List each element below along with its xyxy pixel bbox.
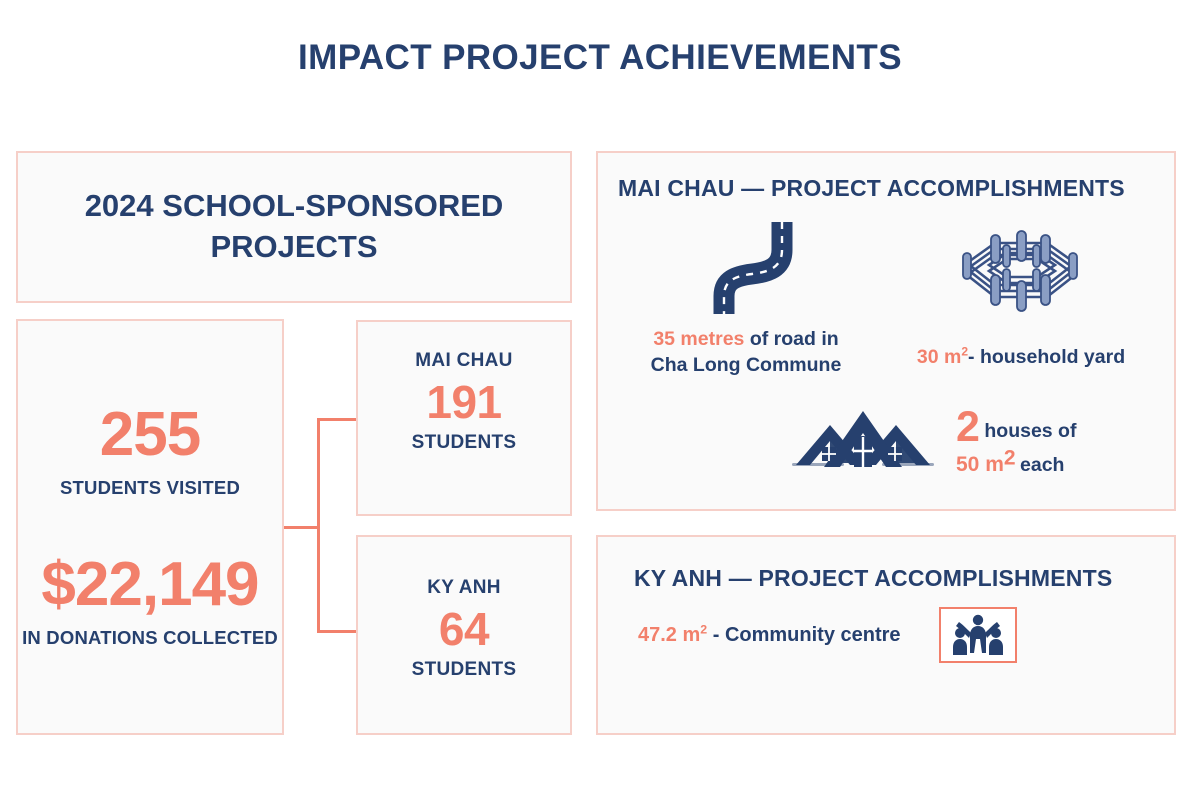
- achievement-houses-caption: 2 houses of 50 m2 each: [956, 406, 1076, 477]
- site-card-mai-chau-count: 191: [426, 378, 501, 428]
- achievement-community-exponent: 2: [700, 622, 707, 636]
- achievement-community-rest: - Community centre: [713, 624, 901, 646]
- site-card-mai-chau: MAI CHAU 191 STUDENTS: [356, 320, 572, 516]
- houses-roofline-icon: [788, 403, 938, 480]
- ky-anh-panel-title: KY ANH — PROJECT ACCOMPLISHMENTS: [634, 565, 1112, 592]
- achievement-houses-line-2: 50 m2 each: [956, 453, 1076, 477]
- totals-stats-card: 255 STUDENTS VISITED $22,149 IN DONATION…: [16, 319, 284, 735]
- achievement-household-yard: 30 m2- household yard: [876, 213, 1166, 371]
- achievement-community-caption: 47.2 m2 - Community centre: [638, 622, 901, 648]
- stat-students-visited-label: STUDENTS VISITED: [60, 476, 240, 500]
- mai-chau-panel-title: MAI CHAU — PROJECT ACCOMPLISHMENTS: [618, 175, 1125, 202]
- site-card-ky-anh: KY ANH 64 STUDENTS: [356, 535, 572, 735]
- stat-donations: $22,149 IN DONATIONS COLLECTED: [22, 554, 278, 650]
- achievement-community-amount: 47.2 m: [638, 624, 700, 646]
- site-card-ky-anh-unit: STUDENTS: [412, 659, 517, 681]
- page-title: IMPACT PROJECT ACHIEVEMENTS: [0, 38, 1200, 78]
- projects-header-text: 2024 SCHOOL-SPONSORED PROJECTS: [18, 186, 570, 268]
- connector-arm-maichau: [317, 418, 358, 421]
- community-people-icon: [947, 613, 1009, 657]
- site-card-mai-chau-name: MAI CHAU: [415, 350, 512, 372]
- achievement-road: 35 metres of road in Cha Long Commune: [616, 213, 876, 378]
- community-icon-frame: [939, 607, 1017, 663]
- stat-students-visited-value: 255: [60, 404, 240, 466]
- fenced-yard-icon: [876, 213, 1166, 323]
- connector-arm-kyanh: [317, 630, 358, 633]
- winding-road-icon: [616, 213, 876, 323]
- achievement-yard-caption: 30 m2- household yard: [876, 345, 1166, 371]
- achievement-houses: 2 houses of 50 m2 each: [788, 403, 1168, 480]
- achievement-houses-count: 2: [956, 403, 980, 451]
- achievement-yard-amount: 30 m: [917, 346, 961, 368]
- site-card-mai-chau-unit: STUDENTS: [412, 432, 517, 454]
- site-card-ky-anh-count: 64: [439, 605, 489, 655]
- mai-chau-accomplishments-panel: MAI CHAU — PROJECT ACCOMPLISHMENTS 35 me…: [596, 151, 1176, 511]
- projects-header-card: 2024 SCHOOL-SPONSORED PROJECTS: [16, 151, 572, 303]
- achievement-houses-line-1: 2 houses of: [956, 406, 1076, 449]
- ky-anh-accomplishments-panel: KY ANH — PROJECT ACCOMPLISHMENTS 47.2 m2…: [596, 535, 1176, 735]
- stat-donations-label: IN DONATIONS COLLECTED: [22, 626, 278, 650]
- stat-students-visited: 255 STUDENTS VISITED: [60, 404, 240, 500]
- connector-spine: [317, 418, 320, 632]
- achievement-houses-amount: 50 m: [956, 453, 1004, 476]
- achievement-houses-label-1: houses of: [984, 420, 1076, 442]
- achievement-road-caption: 35 metres of road in Cha Long Commune: [616, 327, 876, 378]
- achievement-houses-label-2: each: [1020, 454, 1064, 476]
- achievement-community-centre: 47.2 m2 - Community centre: [638, 607, 1138, 663]
- achievement-road-rest-1: of road in: [744, 328, 838, 350]
- achievement-road-rest-2: Cha Long Commune: [651, 354, 842, 376]
- site-card-ky-anh-name: KY ANH: [427, 577, 501, 599]
- achievement-road-highlight: 35 metres: [653, 328, 744, 350]
- stat-donations-value: $22,149: [22, 554, 278, 616]
- achievement-yard-rest: - household yard: [968, 346, 1125, 368]
- infographic-canvas: IMPACT PROJECT ACHIEVEMENTS 2024 SCHOOL-…: [0, 0, 1200, 800]
- achievement-houses-exponent: 2: [1004, 447, 1016, 470]
- connector-trunk: [284, 526, 320, 529]
